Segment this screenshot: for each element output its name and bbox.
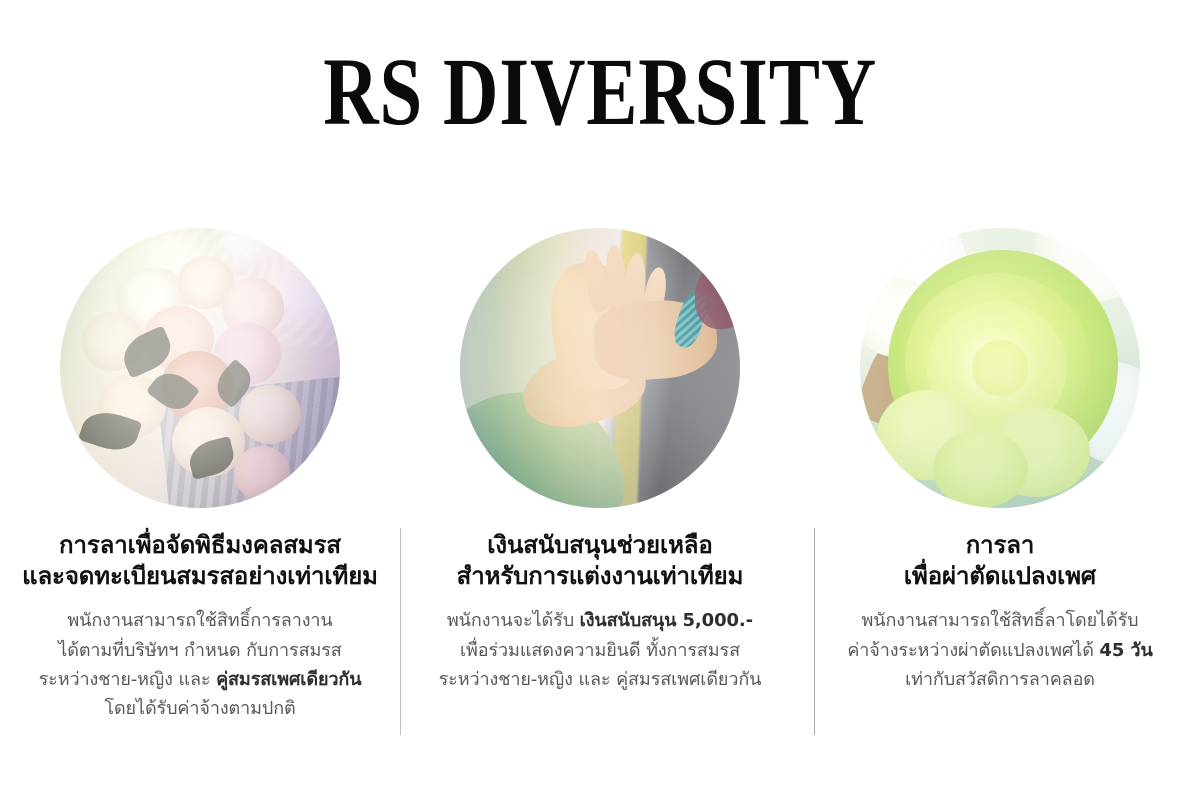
body-text: ระหว่างชาย-หญิง และ — [39, 669, 217, 690]
body-line: ค่าจ้างระหว่างผ่าตัดแปลงเพศได้ 45 วัน — [847, 636, 1152, 665]
heading-line: สำหรับการแต่งงานเท่าเทียม — [457, 561, 744, 592]
body-emphasis: เงินสนับสนุน 5,000.- — [580, 610, 753, 631]
body-emphasis: 45 วัน — [1099, 640, 1152, 661]
soft-focus-glow — [460, 228, 740, 508]
body-line: พนักงานสามารถใช้สิทธิ์ลาโดยได้รับ — [847, 606, 1152, 635]
column-body: พนักงานสามารถใช้สิทธิ์ลาโดยได้รับ ค่าจ้า… — [847, 606, 1152, 693]
page-title: RS DIVERSITY — [323, 44, 877, 140]
two-hands-touching-photo — [460, 228, 740, 508]
benefit-column-wedding-support: เงินสนับสนุนช่วยเหลือ สำหรับการแต่งงานเท… — [400, 218, 800, 694]
column-body: พนักงานสามารถใช้สิทธิ์การลางาน ได้ตามที่… — [39, 606, 362, 723]
heading-line: การลาเพื่อจัดพิธีมงคลสมรส — [22, 530, 378, 561]
benefit-columns: การลาเพื่อจัดพิธีมงคลสมรส และจดทะเบียนสม… — [0, 218, 1200, 723]
column-body: พนักงานจะได้รับ เงินสนับสนุน 5,000.- เพื… — [439, 606, 762, 693]
soft-colour-wash — [860, 228, 1140, 508]
heading-line: การลา — [904, 530, 1096, 561]
heading-line: เพื่อผ่าตัดแปลงเพศ — [904, 561, 1096, 592]
body-line: พนักงานจะได้รับ เงินสนับสนุน 5,000.- — [439, 606, 762, 635]
body-emphasis: คู่สมรสเพศเดียวกัน — [216, 669, 361, 690]
body-line: ได้ตามที่บริษัทฯ กำหนด กับการสมรส — [39, 636, 362, 665]
body-text: พนักงานจะได้รับ — [447, 610, 580, 631]
column-heading: เงินสนับสนุนช่วยเหลือ สำหรับการแต่งงานเท… — [457, 530, 744, 592]
benefit-column-gender-surgery-leave: การลา เพื่อผ่าตัดแปลงเพศ พนักงานสามารถใช… — [800, 218, 1200, 694]
centre-glow — [60, 228, 340, 508]
column-heading: การลา เพื่อผ่าตัดแปลงเพศ — [904, 530, 1096, 592]
body-line: ระหว่างชาย-หญิง และ คู่สมรสเพศเดียวกัน — [439, 665, 762, 694]
body-line: ระหว่างชาย-หญิง และ คู่สมรสเพศเดียวกัน — [39, 665, 362, 694]
body-line: เพื่อร่วมแสดงความยินดี ทั้งการสมรส — [439, 636, 762, 665]
body-line: โดยได้รับค่าจ้างตามปกติ — [39, 694, 362, 723]
body-line: พนักงานสามารถใช้สิทธิ์การลางาน — [39, 606, 362, 635]
heading-line: และจดทะเบียนสมรสอย่างเท่าเทียม — [22, 561, 378, 592]
column-heading: การลาเพื่อจัดพิธีมงคลสมรส และจดทะเบียนสม… — [22, 530, 378, 592]
infographic-page: { "title": "RS DIVERSITY", "colors": { "… — [0, 0, 1200, 800]
bridal-bouquet-roses-photo — [60, 228, 340, 508]
body-text: ค่าจ้างระหว่างผ่าตัดแปลงเพศได้ — [847, 640, 1099, 661]
body-line: เท่ากับสวัสดิการลาคลอด — [847, 665, 1152, 694]
heading-line: เงินสนับสนุนช่วยเหลือ — [457, 530, 744, 561]
green-carnation-flower-photo — [860, 228, 1140, 508]
page-title-container: RS DIVERSITY — [0, 44, 1200, 140]
benefit-column-marriage-leave: การลาเพื่อจัดพิธีมงคลสมรส และจดทะเบียนสม… — [0, 218, 400, 723]
